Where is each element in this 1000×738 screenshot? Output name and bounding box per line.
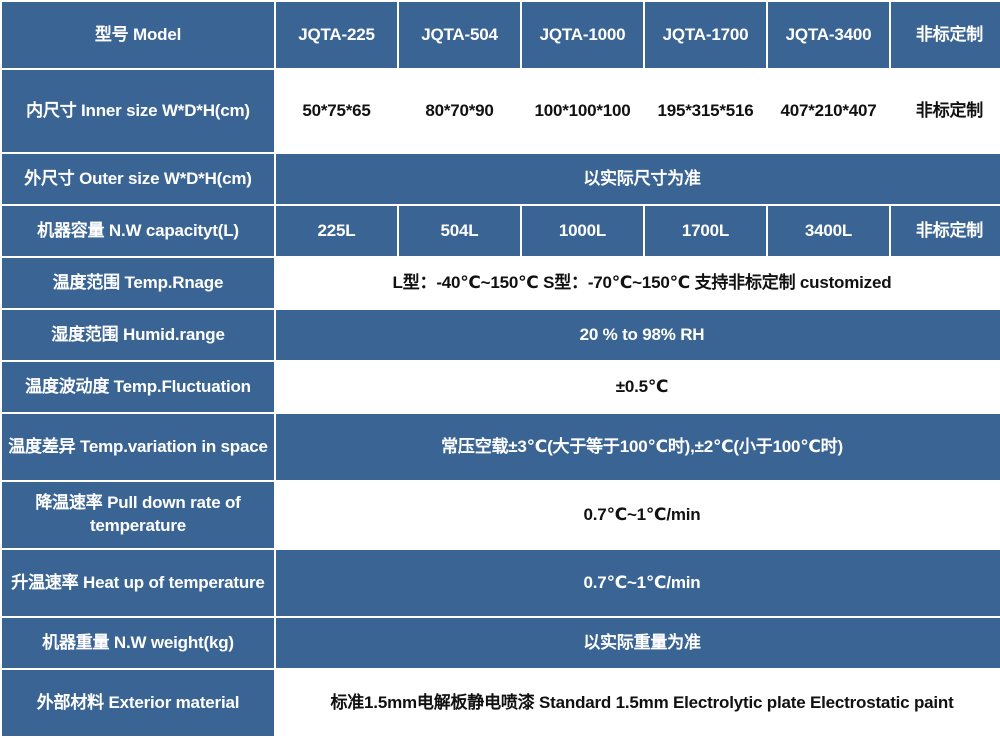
capacity-cell-3: 1000L: [522, 206, 643, 256]
table-row-temp-range: 温度范围 Temp.Rnage L型：-40℃~150℃ S型：-70℃~150…: [2, 258, 1000, 308]
temp-range-value: L型：-40℃~150℃ S型：-70℃~150℃ 支持非标定制 customi…: [276, 258, 1000, 308]
capacity-cell-5: 3400L: [768, 206, 889, 256]
row-label-temp-range: 温度范围 Temp.Rnage: [2, 258, 274, 308]
model-cell-5: JQTA-3400: [768, 2, 889, 68]
heat-up-rate-value: 0.7℃~1℃/min: [276, 550, 1000, 616]
row-label-temp-fluctuation: 温度波动度 Temp.Fluctuation: [2, 362, 274, 412]
inner-size-cell-3: 100*100*100: [522, 70, 643, 152]
inner-size-cell-5: 407*210*407: [768, 70, 889, 152]
inner-size-cell-4: 195*315*516: [645, 70, 766, 152]
table-row-exterior-material: 外部材料 Exterior material 标准1.5mm电解板静电喷漆 St…: [2, 670, 1000, 736]
row-label-model: 型号 Model: [2, 2, 274, 68]
temp-variation-value: 常压空载±3℃(大于等于100℃时),±2℃(小于100℃时): [276, 414, 1000, 480]
table-row-pull-down-rate: 降温速率 Pull down rate of temperature 0.7℃~…: [2, 482, 1000, 548]
table-row-humidity-range: 湿度范围 Humid.range 20 % to 98% RH: [2, 310, 1000, 360]
row-label-pull-down-rate: 降温速率 Pull down rate of temperature: [2, 482, 274, 548]
row-label-heat-up-rate: 升温速率 Heat up of temperature: [2, 550, 274, 616]
weight-value: 以实际重量为准: [276, 618, 1000, 668]
table-row-temp-variation: 温度差异 Temp.variation in space 常压空载±3℃(大于等…: [2, 414, 1000, 480]
row-label-temp-variation: 温度差异 Temp.variation in space: [2, 414, 274, 480]
inner-size-cell-2: 80*70*90: [399, 70, 520, 152]
table-row-capacity: 机器容量 N.W capacityt(L) 225L 504L 1000L 17…: [2, 206, 1000, 256]
table-row-outer-size: 外尺寸 Outer size W*D*H(cm) 以实际尺寸为准: [2, 154, 1000, 204]
capacity-cell-2: 504L: [399, 206, 520, 256]
table-row-weight: 机器重量 N.W weight(kg) 以实际重量为准: [2, 618, 1000, 668]
row-label-humidity-range: 湿度范围 Humid.range: [2, 310, 274, 360]
model-cell-4: JQTA-1700: [645, 2, 766, 68]
humidity-range-value: 20 % to 98% RH: [276, 310, 1000, 360]
table-row-heat-up-rate: 升温速率 Heat up of temperature 0.7℃~1℃/min: [2, 550, 1000, 616]
table-row-temp-fluctuation: 温度波动度 Temp.Fluctuation ±0.5℃: [2, 362, 1000, 412]
model-cell-3: JQTA-1000: [522, 2, 643, 68]
row-label-capacity: 机器容量 N.W capacityt(L): [2, 206, 274, 256]
model-cell-2: JQTA-504: [399, 2, 520, 68]
row-label-weight: 机器重量 N.W weight(kg): [2, 618, 274, 668]
outer-size-value: 以实际尺寸为准: [276, 154, 1000, 204]
model-cell-6: 非标定制: [891, 2, 1000, 68]
capacity-cell-6: 非标定制: [891, 206, 1000, 256]
model-cell-1: JQTA-225: [276, 2, 397, 68]
row-label-inner-size: 内尺寸 Inner size W*D*H(cm): [2, 70, 274, 152]
table-row-model: 型号 Model JQTA-225 JQTA-504 JQTA-1000 JQT…: [2, 2, 1000, 68]
capacity-cell-1: 225L: [276, 206, 397, 256]
temp-fluctuation-value: ±0.5℃: [276, 362, 1000, 412]
pull-down-rate-value: 0.7℃~1℃/min: [276, 482, 1000, 548]
exterior-material-value: 标准1.5mm电解板静电喷漆 Standard 1.5mm Electrolyt…: [276, 670, 1000, 736]
inner-size-cell-1: 50*75*65: [276, 70, 397, 152]
capacity-cell-4: 1700L: [645, 206, 766, 256]
inner-size-cell-6: 非标定制: [891, 70, 1000, 152]
row-label-outer-size: 外尺寸 Outer size W*D*H(cm): [2, 154, 274, 204]
specification-table: 型号 Model JQTA-225 JQTA-504 JQTA-1000 JQT…: [0, 0, 1000, 738]
row-label-exterior-material: 外部材料 Exterior material: [2, 670, 274, 736]
table-row-inner-size: 内尺寸 Inner size W*D*H(cm) 50*75*65 80*70*…: [2, 70, 1000, 152]
